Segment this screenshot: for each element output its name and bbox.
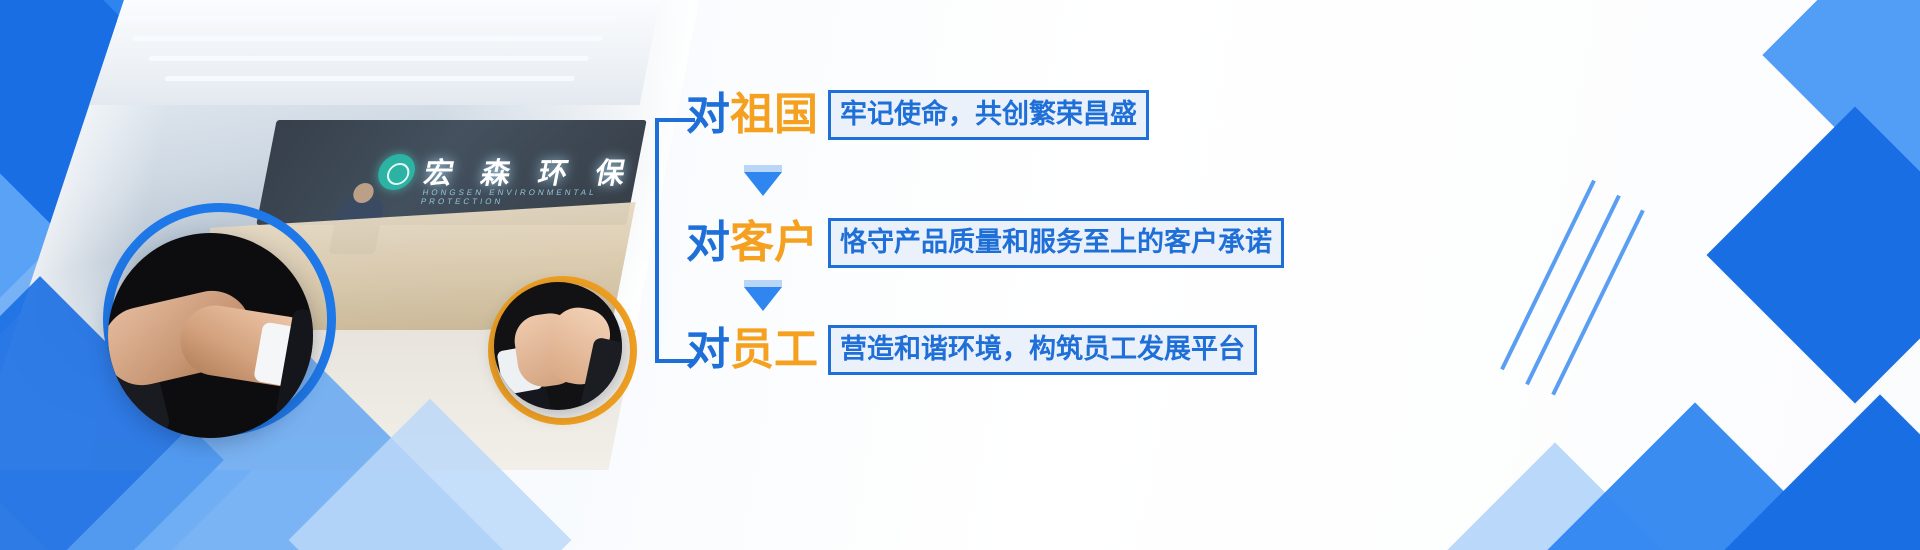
down-arrow-icon-1-cap <box>744 165 782 172</box>
slogan-lead-country: 对祖国 <box>686 93 818 137</box>
slogan-statement-country: 牢记使命，共创繁荣昌盛 <box>828 90 1149 140</box>
slogan-row-employee: 对员工 营造和谐环境，构筑员工发展平台 <box>686 325 1257 375</box>
slogan-target: 客户 <box>730 217 818 268</box>
down-arrow-icon-2-cap <box>744 280 782 287</box>
down-arrow-icon-2 <box>744 287 782 311</box>
down-arrow-icon-1 <box>744 172 782 196</box>
slogan-prefix: 对 <box>686 89 730 140</box>
promotional-banner: 宏 森 环 保 HONGSEN ENVIRONMENTAL PROTECTION <box>0 0 1920 550</box>
slogan-row-customer: 对客户 恪守产品质量和服务至上的客户承诺 <box>686 218 1284 268</box>
slogan-target: 祖国 <box>730 89 818 140</box>
slogan-lead-employee: 对员工 <box>686 328 818 372</box>
slogan-target: 员工 <box>730 324 818 375</box>
slogan-lead-customer: 对客户 <box>686 221 818 265</box>
slogan-group: 对祖国 牢记使命，共创繁荣昌盛 对客户 恪守产品质量和服务至上的客户承诺 对员工… <box>0 0 1920 550</box>
slogan-statement-customer: 恪守产品质量和服务至上的客户承诺 <box>828 218 1284 268</box>
slogan-statement-employee: 营造和谐环境，构筑员工发展平台 <box>828 325 1257 375</box>
slogan-row-country: 对祖国 牢记使命，共创繁荣昌盛 <box>686 90 1149 140</box>
slogan-prefix: 对 <box>686 324 730 375</box>
slogan-prefix: 对 <box>686 217 730 268</box>
